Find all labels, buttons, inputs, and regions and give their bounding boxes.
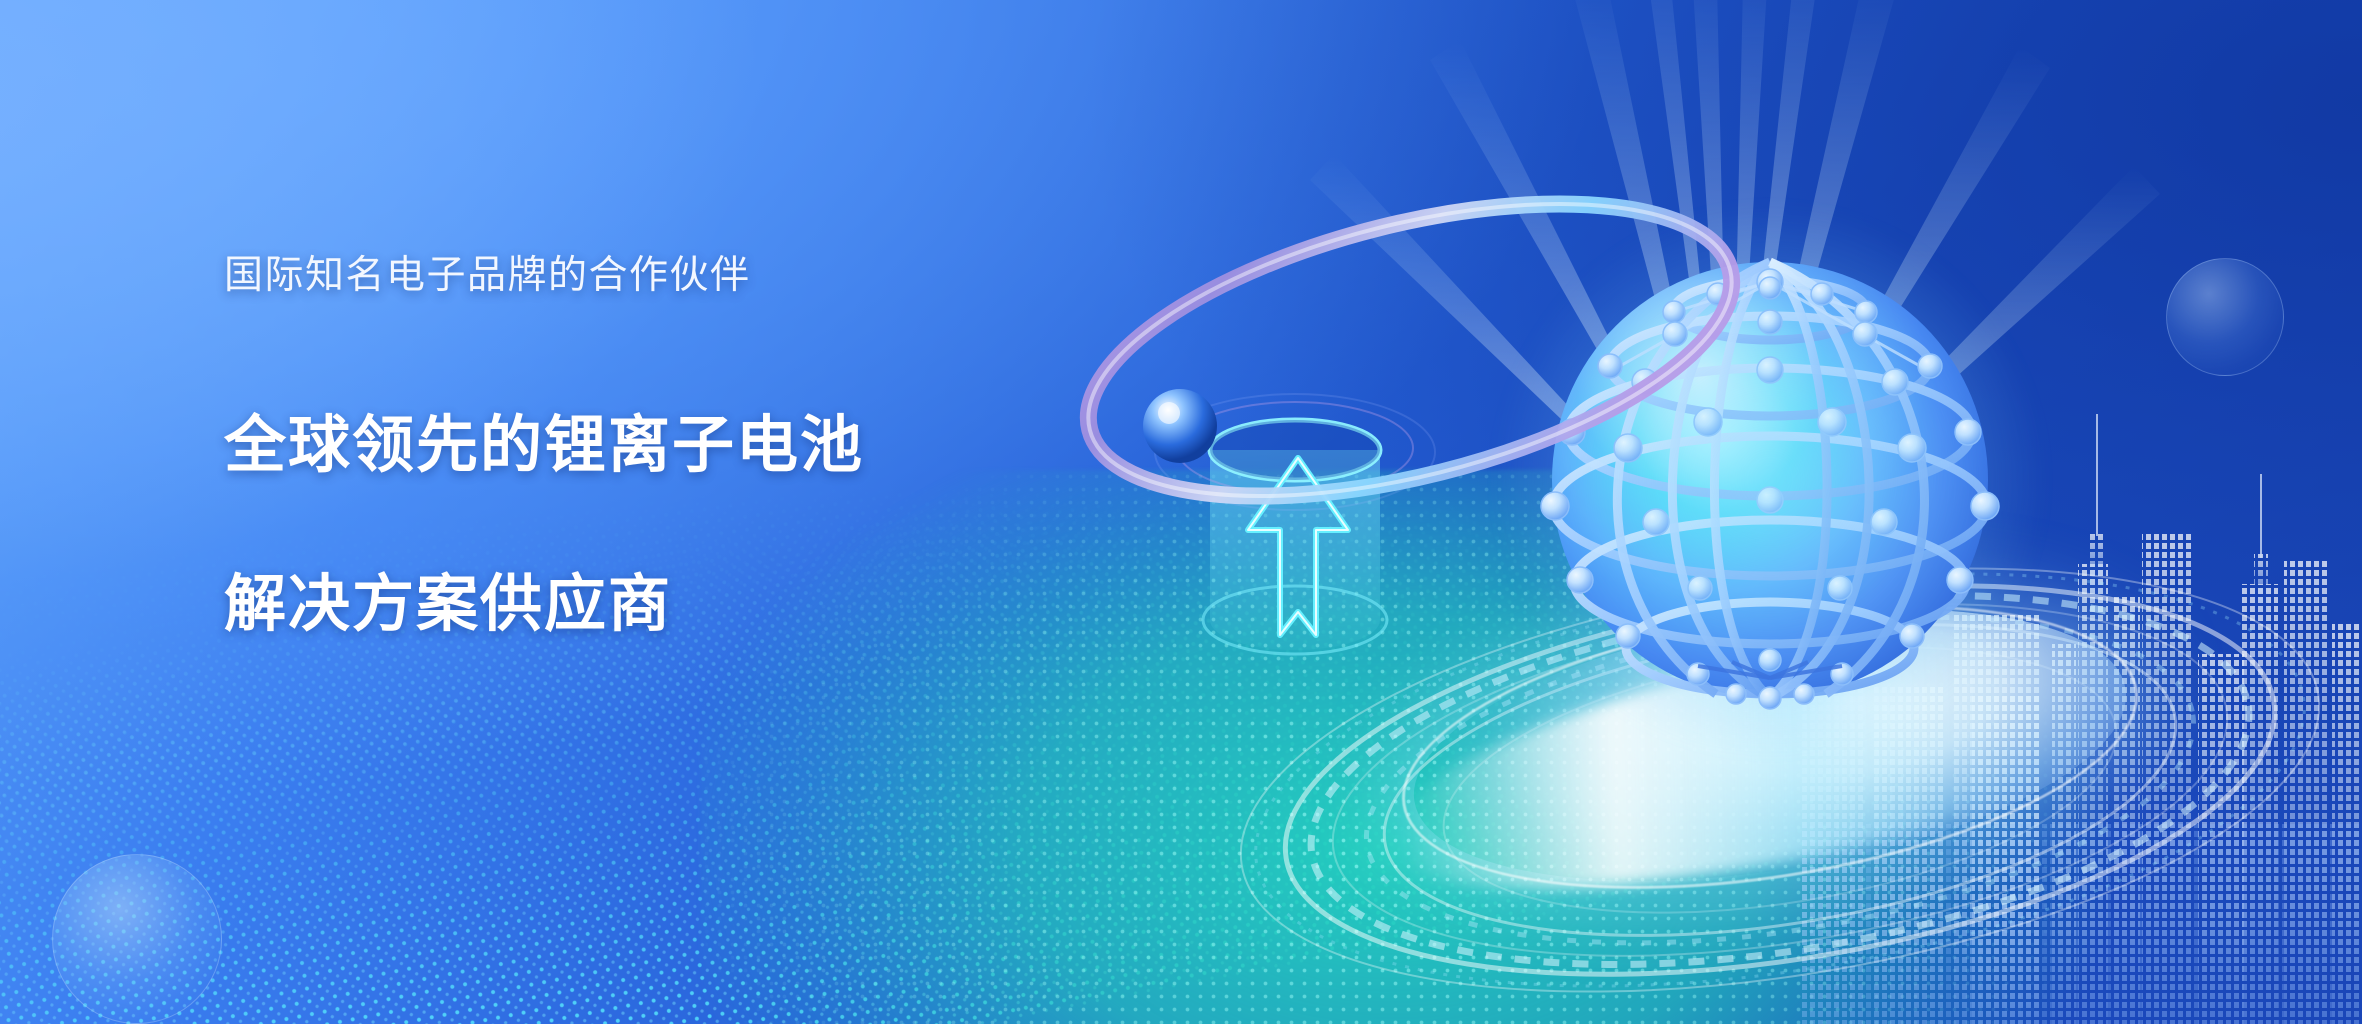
hero-headline: 全球领先的锂离子电池 解决方案供应商 [224,327,864,644]
hero-copy: 国际知名电子品牌的合作伙伴 全球领先的锂离子电池 解决方案供应商 [224,252,864,644]
hero-headline-line-2: 解决方案供应商 [224,570,672,639]
hero-headline-line-1: 全球领先的锂离子电池 [224,411,864,480]
orbit-ring [1060,130,1760,570]
hero-banner: 国际知名电子品牌的合作伙伴 全球领先的锂离子电池 解决方案供应商 [0,0,2362,1024]
hero-eyebrow: 国际知名电子品牌的合作伙伴 [224,252,864,301]
hero-artwork [1080,20,2362,1024]
